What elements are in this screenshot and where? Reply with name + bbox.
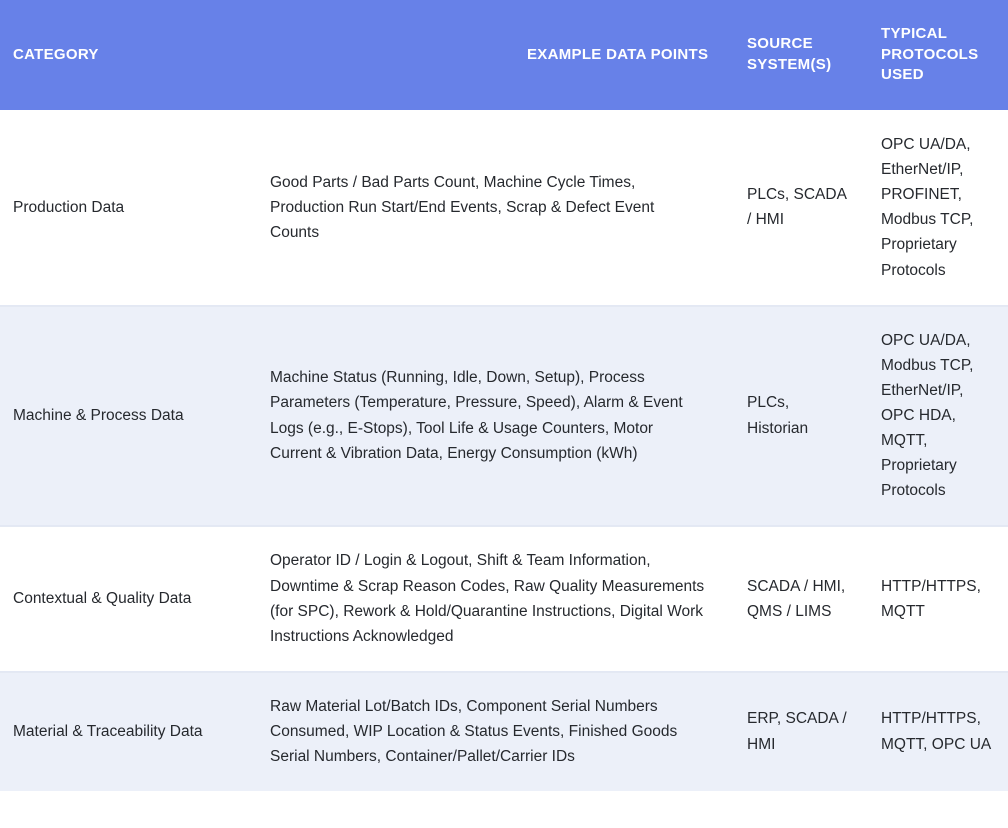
cell-category: Production Data	[0, 110, 257, 305]
table-row: Contextual & Quality Data Operator ID / …	[0, 526, 1008, 671]
cell-source: SCADA / HMI, QMS / LIMS	[732, 526, 865, 671]
cell-category: Machine & Process Data	[0, 305, 257, 526]
cell-protocols: HTTP/HTTPS, MQTT	[865, 526, 1008, 671]
cell-examples: Raw Material Lot/Batch IDs, Component Se…	[257, 671, 732, 791]
cell-source: ERP, SCADA / HMI	[732, 671, 865, 791]
cell-protocols: OPC UA/DA, EtherNet/IP, PROFINET, Modbus…	[865, 110, 1008, 305]
cell-examples: Good Parts / Bad Parts Count, Machine Cy…	[257, 110, 732, 305]
table-row: Production Data Good Parts / Bad Parts C…	[0, 110, 1008, 305]
column-header-protocols[interactable]: TYPICAL PROTOCOLS USED	[865, 0, 1008, 110]
cell-source: PLCs, SCADA / HMI	[732, 110, 865, 305]
table-row: Machine & Process Data Machine Status (R…	[0, 305, 1008, 526]
cell-examples: Operator ID / Login & Logout, Shift & Te…	[257, 526, 732, 671]
cell-protocols: OPC UA/DA, Modbus TCP, EtherNet/IP, OPC …	[865, 305, 1008, 526]
cell-category: Material & Traceability Data	[0, 671, 257, 791]
data-category-table: CATEGORY EXAMPLE DATA POINTS SOURCE SYST…	[0, 0, 1008, 791]
column-header-examples[interactable]: EXAMPLE DATA POINTS	[257, 0, 732, 110]
cell-protocols: HTTP/HTTPS, MQTT, OPC UA	[865, 671, 1008, 791]
cell-source: PLCs, Historian	[732, 305, 865, 526]
column-header-source[interactable]: SOURCE SYSTEM(S)	[732, 0, 865, 110]
header-row: CATEGORY EXAMPLE DATA POINTS SOURCE SYST…	[0, 0, 1008, 110]
cell-category: Contextual & Quality Data	[0, 526, 257, 671]
table-body: Production Data Good Parts / Bad Parts C…	[0, 110, 1008, 791]
column-header-category[interactable]: CATEGORY	[0, 0, 257, 110]
cell-examples: Machine Status (Running, Idle, Down, Set…	[257, 305, 732, 526]
table-container: CATEGORY EXAMPLE DATA POINTS SOURCE SYST…	[0, 0, 1008, 828]
table-header: CATEGORY EXAMPLE DATA POINTS SOURCE SYST…	[0, 0, 1008, 110]
table-row: Material & Traceability Data Raw Materia…	[0, 671, 1008, 791]
